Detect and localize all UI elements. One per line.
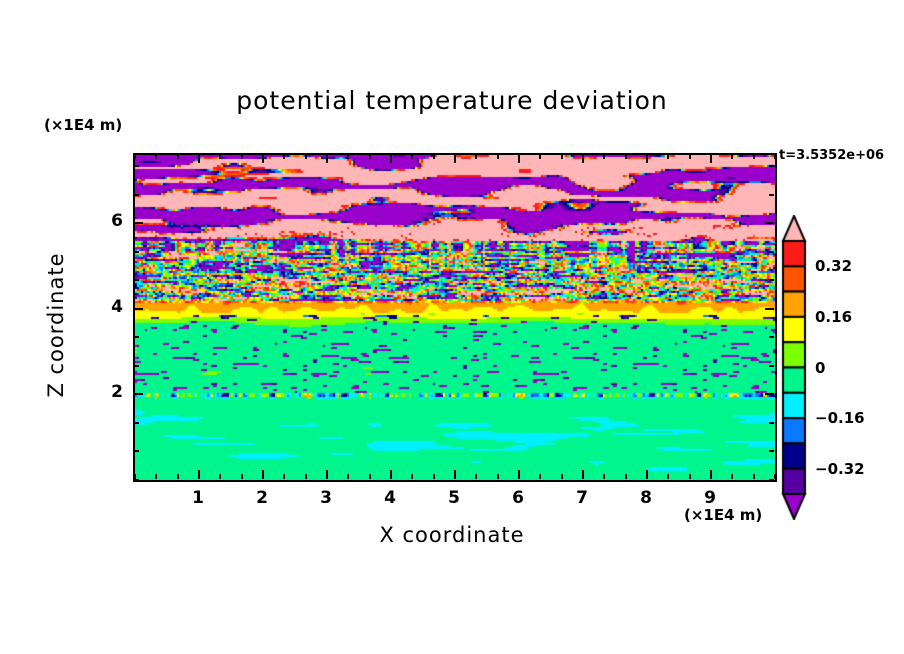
axis-tick	[769, 251, 774, 253]
axis-tick	[134, 279, 139, 281]
axis-tick	[539, 154, 541, 159]
axis-tick	[347, 474, 349, 479]
axis-tick	[155, 154, 157, 159]
axis-tick	[769, 450, 774, 452]
y-axis-tick-label: 4	[83, 297, 123, 317]
colorbar-tick-label: −0.32	[815, 460, 865, 478]
axis-tick	[561, 154, 563, 159]
axis-tick	[241, 474, 243, 479]
axis-tick	[134, 251, 139, 253]
axis-tick	[283, 474, 285, 479]
axis-tick	[155, 474, 157, 479]
axis-tick	[390, 154, 392, 163]
axis-tick	[134, 222, 143, 224]
axis-tick	[518, 154, 520, 163]
x-axis-tick-label: 1	[178, 488, 218, 508]
axis-tick	[769, 336, 774, 338]
axis-tick	[390, 470, 392, 479]
axis-tick	[497, 154, 499, 159]
axis-tick	[646, 154, 648, 163]
axis-tick	[475, 474, 477, 479]
y-axis-label: Z coordinate	[44, 225, 68, 425]
axis-tick	[561, 474, 563, 479]
axis-tick	[411, 154, 413, 159]
axis-tick	[625, 474, 627, 479]
axis-tick	[283, 154, 285, 159]
colorbar-tick-label: 0.32	[815, 257, 852, 275]
axis-tick	[134, 422, 139, 424]
axis-tick	[134, 393, 143, 395]
figure-canvas: potential temperature deviation (×1E4 m)…	[0, 0, 904, 654]
page-title: potential temperature deviation	[0, 86, 904, 115]
axis-tick	[134, 194, 139, 196]
axis-tick	[134, 450, 139, 452]
axis-tick	[582, 470, 584, 479]
x-axis-tick-label: 7	[562, 488, 602, 508]
axis-tick	[198, 154, 200, 163]
axis-tick	[369, 474, 371, 479]
axis-tick	[475, 154, 477, 159]
axis-tick	[454, 154, 456, 163]
axis-tick	[262, 154, 264, 163]
colorbar-tick-label: 0.16	[815, 308, 852, 326]
colorbar-gradient	[778, 215, 814, 520]
plot-area	[133, 153, 777, 482]
axis-tick	[305, 474, 307, 479]
contour-field	[135, 155, 775, 480]
y-axis-tick-label: 2	[83, 382, 123, 402]
timestamp-label: t=3.5352e+06	[779, 148, 884, 163]
axis-tick	[219, 154, 221, 159]
axis-tick	[769, 365, 774, 367]
axis-tick	[134, 154, 136, 159]
axis-tick	[305, 154, 307, 159]
axis-tick	[753, 154, 755, 159]
axis-tick	[625, 154, 627, 159]
x-axis-tick-label: 5	[434, 488, 474, 508]
axis-tick	[177, 474, 179, 479]
x-axis-tick-label: 4	[370, 488, 410, 508]
axis-tick	[411, 474, 413, 479]
axis-tick	[326, 154, 328, 163]
axis-tick	[497, 474, 499, 479]
axis-tick	[769, 479, 774, 481]
x-axis-label: X coordinate	[0, 523, 904, 547]
axis-tick	[326, 470, 328, 479]
axis-tick	[347, 154, 349, 159]
axis-tick	[433, 474, 435, 479]
axis-tick	[198, 470, 200, 479]
axis-tick	[134, 365, 139, 367]
x-axis-tick-label: 3	[306, 488, 346, 508]
axis-tick	[454, 470, 456, 479]
axis-tick	[241, 154, 243, 159]
axis-tick	[765, 393, 774, 395]
colorbar-tick-label: −0.16	[815, 409, 865, 427]
axis-tick	[219, 474, 221, 479]
axis-tick	[369, 154, 371, 159]
axis-tick	[765, 308, 774, 310]
axis-tick	[769, 165, 774, 167]
axis-tick	[769, 279, 774, 281]
colorbar-tick-label: 0	[815, 359, 825, 377]
axis-tick	[433, 154, 435, 159]
axis-tick	[582, 154, 584, 163]
axis-tick	[134, 479, 139, 481]
axis-tick	[710, 470, 712, 479]
axis-tick	[689, 474, 691, 479]
y-axis-unit-label: (×1E4 m)	[44, 116, 122, 134]
x-axis-tick-label: 2	[242, 488, 282, 508]
axis-tick	[134, 165, 139, 167]
axis-tick	[603, 474, 605, 479]
axis-tick	[667, 474, 669, 479]
colorbar: 0.320.160−0.16−0.32	[778, 215, 814, 520]
axis-tick	[134, 336, 139, 338]
x-axis-unit-label: (×1E4 m)	[684, 506, 762, 524]
axis-tick	[262, 470, 264, 479]
axis-tick	[177, 154, 179, 159]
axis-tick	[518, 470, 520, 479]
axis-tick	[774, 154, 776, 159]
axis-tick	[134, 308, 143, 310]
axis-tick	[765, 222, 774, 224]
x-axis-tick-label: 9	[690, 488, 730, 508]
x-axis-tick-label: 8	[626, 488, 666, 508]
axis-tick	[774, 474, 776, 479]
axis-tick	[667, 154, 669, 159]
y-axis-tick-label: 6	[83, 211, 123, 231]
axis-tick	[769, 194, 774, 196]
x-axis-tick-label: 6	[498, 488, 538, 508]
axis-tick	[769, 422, 774, 424]
axis-tick	[710, 154, 712, 163]
axis-tick	[539, 474, 541, 479]
axis-tick	[731, 154, 733, 159]
axis-tick	[753, 474, 755, 479]
axis-tick	[603, 154, 605, 159]
axis-tick	[689, 154, 691, 159]
axis-tick	[731, 474, 733, 479]
axis-tick	[646, 470, 648, 479]
